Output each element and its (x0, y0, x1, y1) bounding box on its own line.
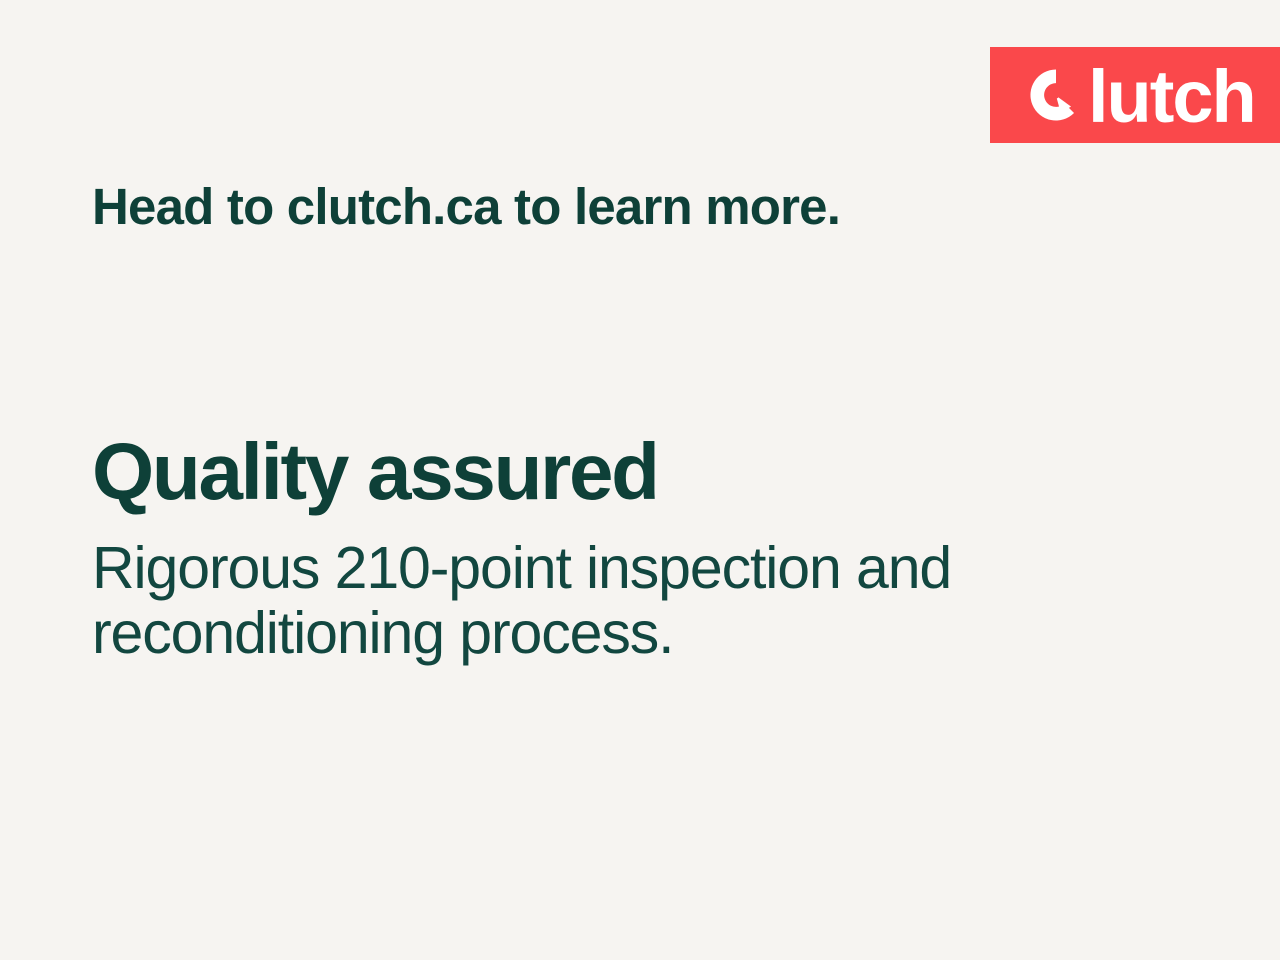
clutch-wordmark-text: lutch (1088, 68, 1255, 126)
lead-line-text: Head to clutch.ca to learn more. (92, 178, 840, 237)
headline-text: Quality assured (92, 432, 1092, 512)
headline-block: Quality assured Rigorous 210-point inspe… (92, 432, 1092, 667)
subhead-text: Rigorous 210-point inspection and recond… (92, 536, 972, 667)
clutch-logo-block[interactable]: lutch (990, 47, 1280, 143)
slide-canvas: lutch Head to clutch.ca to learn more. Q… (0, 0, 1280, 960)
clutch-c-gauge-icon (1027, 66, 1085, 124)
clutch-wordmark: lutch (1027, 47, 1255, 143)
